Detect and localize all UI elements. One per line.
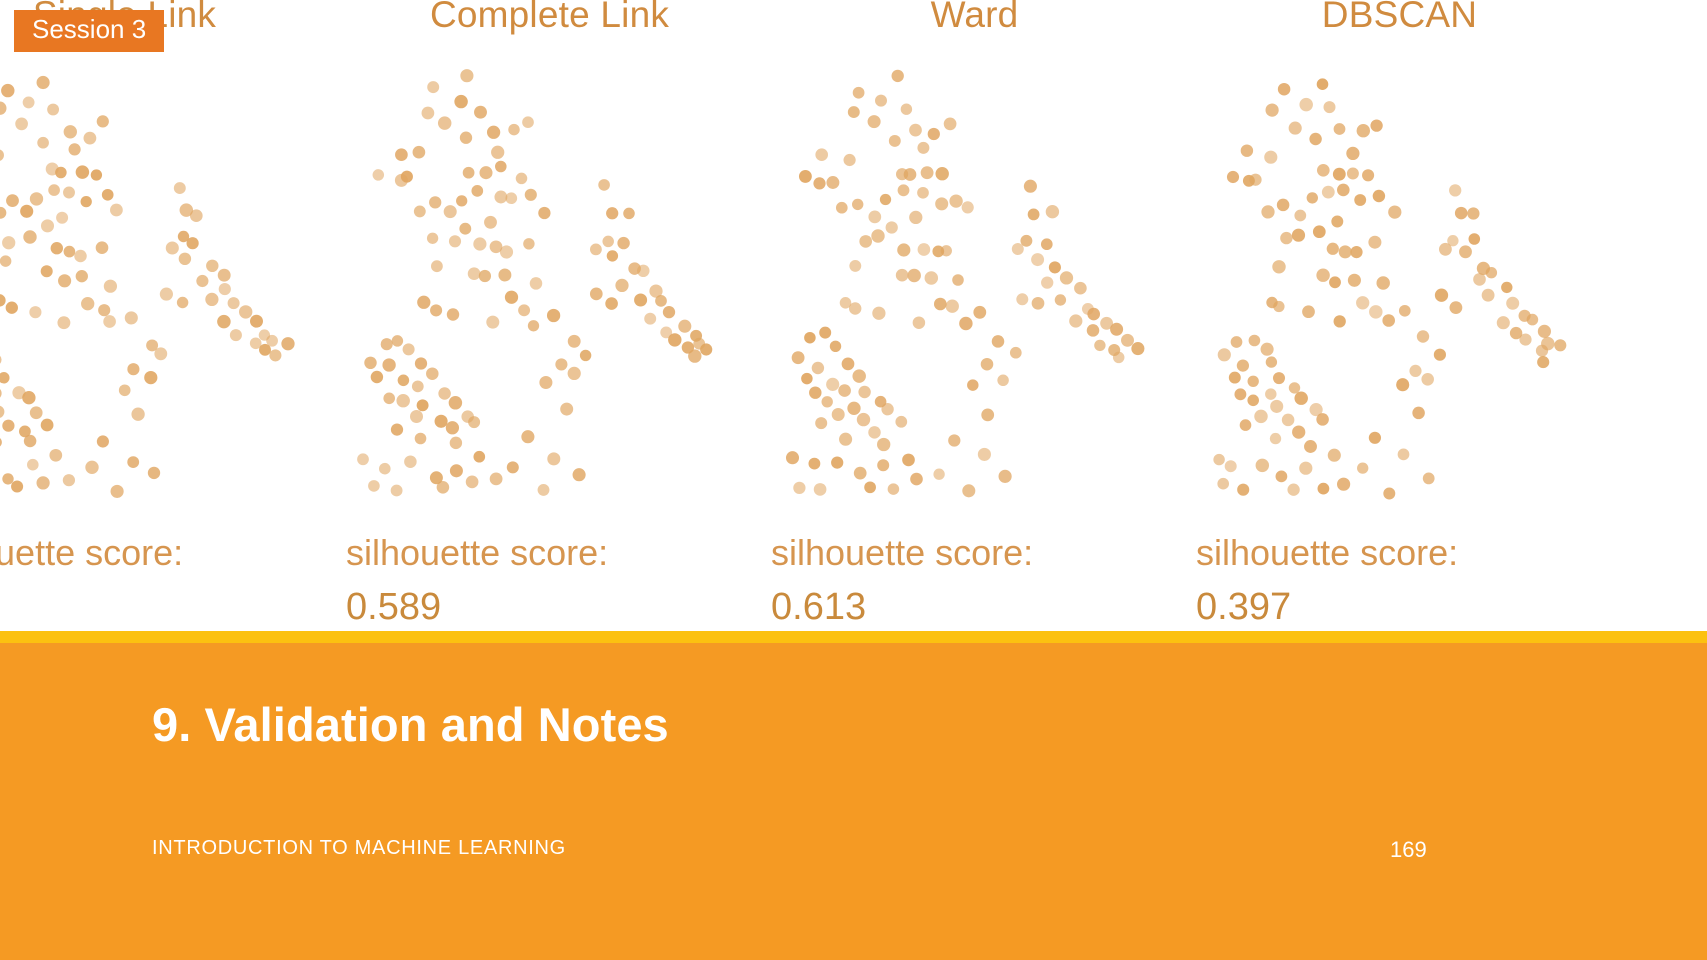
panel-title-complete-link: Complete Link bbox=[337, 0, 762, 36]
section-title: 9. Validation and Notes bbox=[152, 697, 669, 752]
score-value-dbscan: 0.397 bbox=[1192, 586, 1612, 629]
slide: Single Link silhouette score: 0.08 Compl… bbox=[0, 0, 1707, 960]
scatter-plot-dbscan bbox=[1199, 62, 1599, 512]
score-value-ward: 0.613 bbox=[767, 586, 1187, 629]
section-banner: 9. Validation and Notes INTRODUCTION TO … bbox=[0, 643, 1707, 960]
panel-dbscan: DBSCAN silhouette score: 0.397 bbox=[1187, 0, 1612, 690]
score-label-complete-link: silhouette score: bbox=[342, 532, 762, 574]
score-label-ward: silhouette score: bbox=[767, 532, 1187, 574]
scatter-plot-ward bbox=[774, 62, 1174, 512]
course-footer: INTRODUCTION TO MACHINE LEARNING bbox=[152, 837, 566, 860]
banner-top-rule bbox=[0, 631, 1707, 643]
scatter-svg-dbscan bbox=[1199, 62, 1599, 512]
clustering-comparison-figure: Single Link silhouette score: 0.08 Compl… bbox=[0, 0, 1707, 690]
scatter-plot-complete-link bbox=[349, 62, 749, 512]
panel-complete-link: Complete Link silhouette score: 0.589 bbox=[337, 0, 762, 690]
score-value-single-link: 0.08 bbox=[0, 586, 337, 629]
session-badge[interactable]: Session 3 bbox=[14, 10, 164, 52]
score-label-single-link: silhouette score: bbox=[0, 532, 337, 574]
score-label-dbscan: silhouette score: bbox=[1192, 532, 1612, 574]
panel-ward: Ward silhouette score: 0.613 bbox=[762, 0, 1187, 690]
scatter-svg-single-link bbox=[0, 62, 324, 512]
panel-title-dbscan: DBSCAN bbox=[1187, 0, 1612, 36]
scatter-plot-single-link bbox=[0, 62, 324, 512]
score-value-complete-link: 0.589 bbox=[342, 586, 762, 629]
panel-title-ward: Ward bbox=[762, 0, 1187, 36]
page-number: 169 bbox=[1390, 837, 1427, 863]
scatter-svg-ward bbox=[774, 62, 1174, 512]
panel-single-link: Single Link silhouette score: 0.08 bbox=[0, 0, 337, 690]
scatter-svg-complete-link bbox=[349, 62, 749, 512]
